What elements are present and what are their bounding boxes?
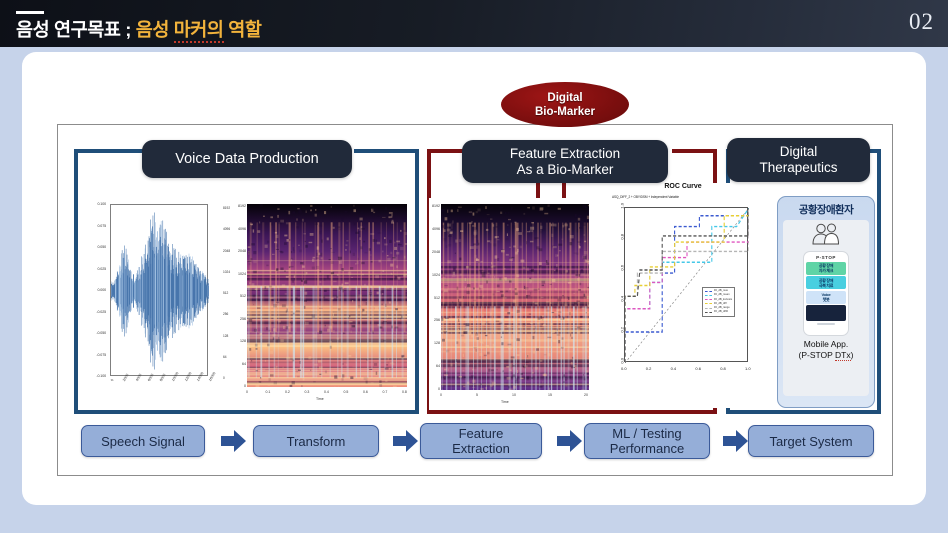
spectrogram-1-x-tick: 0 bbox=[246, 390, 248, 394]
flow-arrow-3 bbox=[557, 429, 583, 458]
section-header-digital-therapeutics[interactable]: Digital Therapeutics bbox=[727, 138, 870, 182]
phone-app-card[interactable]: 공황 장애자가 체크 bbox=[806, 262, 846, 275]
dtx-caption-pre: (P-STOP bbox=[799, 350, 836, 360]
roc-legend-swatch bbox=[705, 291, 712, 292]
waveform-y-tick: -0.100 bbox=[88, 374, 106, 378]
spectrogram-1-x-tick: 0.6 bbox=[363, 390, 368, 394]
waveform-x-tick: 0 bbox=[110, 378, 114, 382]
spectrogram-1-y-tick: 0 bbox=[238, 384, 246, 388]
spectrogram-1-x-tick: 0.1 bbox=[266, 390, 271, 394]
roc-title: ROC Curve bbox=[604, 183, 762, 190]
roc-y-tick: 0.8 bbox=[620, 234, 625, 240]
dtx-card-title: 공황장애환자 bbox=[799, 202, 853, 217]
waveform-y-tick: 0.025 bbox=[88, 267, 106, 271]
roc-x-tick: 0.2 bbox=[646, 366, 652, 371]
waveform-y-tick: -0.025 bbox=[88, 310, 106, 314]
phone-app-card-label: 공황 장애자가 체크 bbox=[819, 263, 833, 273]
waveform-right-tick: 4096 bbox=[223, 227, 230, 231]
page-title-accent: 음성 마커의 역할 bbox=[136, 19, 262, 43]
mel-spectrogram-short: 8192409620481024512256128640 00.10.20.30… bbox=[238, 198, 410, 406]
flow-step-label: Target System bbox=[769, 434, 852, 449]
spectrogram-1-y-tick: 4096 bbox=[238, 227, 246, 231]
roc-subtitle: ASQ_DIFF_2 + OBY/DSM + Independent Varia… bbox=[612, 195, 679, 199]
flow-step-label: Speech Signal bbox=[101, 434, 185, 449]
flow-step-1[interactable]: Speech Signal bbox=[81, 425, 205, 457]
roc-x-tick: 1.0 bbox=[745, 366, 751, 371]
spectrogram-2-y-tick: 0 bbox=[429, 387, 440, 391]
roc-x-tick: 0.4 bbox=[671, 366, 677, 371]
chip-feature-label-line2: As a Bio-Marker bbox=[517, 162, 614, 178]
phone-app-card-label: Voice챗봇 bbox=[822, 292, 831, 302]
spectrogram-1-x-tick: 0.5 bbox=[344, 390, 349, 394]
flow-step-label: ML / TestingPerformance bbox=[610, 426, 684, 456]
roc-y-tick: 0.6 bbox=[620, 265, 625, 271]
spectrogram-1-y-tick: 128 bbox=[238, 339, 246, 343]
chip-dtx-label-line2: Therapeutics bbox=[759, 160, 837, 176]
spectrogram-1-x-tick: 0.8 bbox=[402, 390, 407, 394]
flow-step-label: Transform bbox=[287, 434, 346, 449]
roc-x-tick: 0.8 bbox=[720, 366, 726, 371]
spectrogram-1-y-tick: 64 bbox=[238, 362, 246, 366]
spectrogram-2-x-tick: 15 bbox=[548, 393, 552, 397]
roc-curve-plot: ROC Curve ASQ_DIFF_2 + OBY/DSM + Indepen… bbox=[604, 183, 762, 408]
spectrogram-2-x-tick: 0 bbox=[440, 393, 442, 397]
page-title: 음성 연구목표 ; 음성 마커의 역할 bbox=[16, 16, 262, 42]
title-rule bbox=[16, 11, 44, 14]
flow-step-3[interactable]: FeatureExtraction bbox=[420, 423, 542, 459]
spectrogram-2-svg bbox=[441, 204, 589, 390]
phone-app-card[interactable] bbox=[806, 305, 846, 321]
flow-step-2[interactable]: Transform bbox=[253, 425, 379, 457]
waveform-right-tick: 8192 bbox=[223, 206, 230, 210]
bio-marker-line2: Bio-Marker bbox=[535, 105, 595, 119]
waveform-y-tick: -0.050 bbox=[88, 331, 106, 335]
accent-squiggle: 마커의 bbox=[174, 19, 224, 43]
spectrogram-1-x-tick: 0.2 bbox=[285, 390, 290, 394]
spectrogram-2-y-tick: 512 bbox=[429, 296, 440, 300]
spectrogram-1-y-tick: 2048 bbox=[238, 249, 246, 253]
spectrogram-1-image bbox=[247, 204, 407, 387]
section-header-voice-data-production[interactable]: Voice Data Production bbox=[142, 140, 352, 178]
roc-legend-swatch bbox=[705, 312, 712, 313]
dtx-caption-line2: (P-STOP DTx) bbox=[799, 350, 854, 361]
waveform-right-tick: 256 bbox=[223, 312, 228, 316]
spectrogram-2-y-tick: 2048 bbox=[429, 250, 440, 254]
spectrogram-2-y-tick: 4096 bbox=[429, 227, 440, 231]
spectrogram-2-x-tick: 10 bbox=[512, 393, 516, 397]
flow-step-label: FeatureExtraction bbox=[452, 426, 510, 456]
dtx-caption-squiggle: DTx bbox=[835, 350, 851, 361]
waveform-axes bbox=[110, 204, 208, 376]
spectrogram-1-xlabel: Time bbox=[316, 397, 324, 401]
phone-app-card[interactable]: 공황 장애극복 치료 bbox=[806, 276, 846, 289]
flow-step-4[interactable]: ML / TestingPerformance bbox=[584, 423, 710, 459]
phone-app-card[interactable]: Voice챗봇 bbox=[806, 291, 846, 304]
waveform-right-tick: 64 bbox=[223, 355, 227, 359]
roc-legend-swatch bbox=[705, 303, 712, 304]
waveform-y-tick: 0.075 bbox=[88, 224, 106, 228]
roc-svg bbox=[625, 208, 749, 363]
spectrogram-2-y-tick: 1024 bbox=[429, 273, 440, 277]
spectrogram-1-x-tick: 0.3 bbox=[305, 390, 310, 394]
waveform-right-tick: 1024 bbox=[223, 270, 230, 274]
roc-legend-swatch bbox=[705, 299, 712, 300]
waveform-y-tick: 0.000 bbox=[88, 288, 106, 292]
chip-voice-label: Voice Data Production bbox=[175, 151, 318, 167]
spectrogram-1-y-tick: 512 bbox=[238, 294, 246, 298]
dtx-caption-line1: Mobile App. bbox=[799, 339, 854, 350]
waveform-svg bbox=[111, 205, 209, 377]
phone-app-card-list: 공황 장애자가 체크공황 장애극복 치료Voice챗봇 bbox=[806, 260, 846, 321]
waveform-right-tick: 512 bbox=[223, 291, 228, 295]
waveform-plot: 0.1000.0750.0500.0250.000-0.025-0.050-0.… bbox=[84, 198, 234, 406]
phone-mockup: P-STOP 공황 장애자가 체크공황 장애극복 치료Voice챗봇 bbox=[803, 251, 849, 336]
spectrogram-2-y-tick: 8192 bbox=[429, 204, 440, 208]
spectrogram-2-y-tick: 128 bbox=[429, 341, 440, 345]
flow-arrow-4 bbox=[723, 429, 749, 458]
roc-axes: F0_dB_maxF0_dB_meanF0_dB_kurtosisF0_dB_d… bbox=[624, 207, 748, 362]
roc-y-tick: 0.0 bbox=[620, 358, 625, 364]
waveform-y-tick: -0.075 bbox=[88, 353, 106, 357]
roc-legend: F0_dB_maxF0_dB_meanF0_dB_kurtosisF0_dB_d… bbox=[702, 287, 735, 317]
spectrogram-2-y-tick: 64 bbox=[429, 364, 440, 368]
spectrogram-2-image bbox=[441, 204, 589, 390]
bio-marker-line1: Digital bbox=[547, 91, 582, 105]
flow-arrow-1 bbox=[221, 429, 247, 458]
flow-arrow-2 bbox=[393, 429, 419, 458]
phone-home-indicator bbox=[817, 323, 835, 325]
waveform-y-tick: 0.100 bbox=[88, 202, 106, 206]
section-header-feature-extraction[interactable]: Feature Extraction As a Bio-Marker bbox=[462, 140, 668, 183]
roc-legend-swatch bbox=[705, 295, 712, 296]
waveform-right-tick: 128 bbox=[223, 334, 228, 338]
phone-app-card-label: 공황 장애극복 치료 bbox=[819, 278, 833, 288]
patient-avatar-icon bbox=[809, 223, 843, 250]
spectrogram-1-y-tick: 256 bbox=[238, 317, 246, 321]
roc-y-tick: 0.4 bbox=[620, 296, 625, 302]
digital-bio-marker-badge: Digital Bio-Marker bbox=[501, 82, 629, 127]
dtx-card-inner: P-STOP 공황 장애자가 체크공황 장애극복 치료Voice챗봇 Mobil… bbox=[783, 220, 869, 396]
waveform-right-tick: 0 bbox=[223, 376, 225, 380]
spectrogram-2-x-tick: 20 bbox=[584, 393, 588, 397]
roc-x-tick: 0.0 bbox=[621, 366, 627, 371]
spectrogram-2-xlabel: Time bbox=[501, 400, 509, 404]
spectrogram-1-y-tick: 1024 bbox=[238, 272, 246, 276]
panel-feature-top-right-edge bbox=[672, 149, 717, 153]
roc-legend-item: F0_dB_diff2 bbox=[705, 310, 732, 314]
roc-legend-swatch bbox=[705, 308, 712, 309]
dtx-caption: Mobile App. (P-STOP DTx) bbox=[799, 339, 854, 361]
roc-legend-label: F0_dB_diff2 bbox=[714, 310, 728, 314]
spectrogram-2-x-tick: 5 bbox=[476, 393, 478, 397]
waveform-right-tick: 2048 bbox=[223, 249, 230, 253]
dtx-patient-card: 공황장애환자 P-STOP 공황 장애자가 체크공황 장애극복 치료Voice챗… bbox=[777, 196, 875, 408]
chip-feature-label-line1: Feature Extraction bbox=[510, 146, 620, 162]
spectrogram-1-y-tick: 8192 bbox=[238, 204, 246, 208]
panel-voice-top-right-edge bbox=[354, 149, 419, 153]
page-number: 02 bbox=[909, 9, 934, 35]
slide-header: 음성 연구목표 ; 음성 마커의 역할 02 bbox=[0, 0, 948, 47]
accent-tail: 역할 bbox=[224, 19, 262, 40]
waveform-x-tick: 16000 bbox=[208, 371, 216, 382]
mel-spectrogram-long: 8192409620481024512256128640 05101520 Ti… bbox=[429, 198, 591, 410]
roc-y-tick: 0.2 bbox=[620, 327, 625, 333]
page-title-main: 음성 연구목표 ; bbox=[16, 19, 136, 40]
spectrogram-2-y-tick: 256 bbox=[429, 318, 440, 322]
roc-x-tick: 0.6 bbox=[695, 366, 701, 371]
spectrogram-1-x-tick: 0.7 bbox=[383, 390, 388, 394]
waveform-y-tick: 0.050 bbox=[88, 245, 106, 249]
chip-dtx-label-line1: Digital bbox=[780, 144, 818, 160]
dtx-caption-post: ) bbox=[851, 350, 854, 360]
spectrogram-1-x-tick: 0.4 bbox=[324, 390, 329, 394]
spectrogram-1-svg bbox=[247, 204, 407, 387]
flow-step-5[interactable]: Target System bbox=[748, 425, 874, 457]
roc-y-tick: 1.0 bbox=[620, 203, 625, 209]
accent-lead: 음성 bbox=[136, 19, 174, 40]
